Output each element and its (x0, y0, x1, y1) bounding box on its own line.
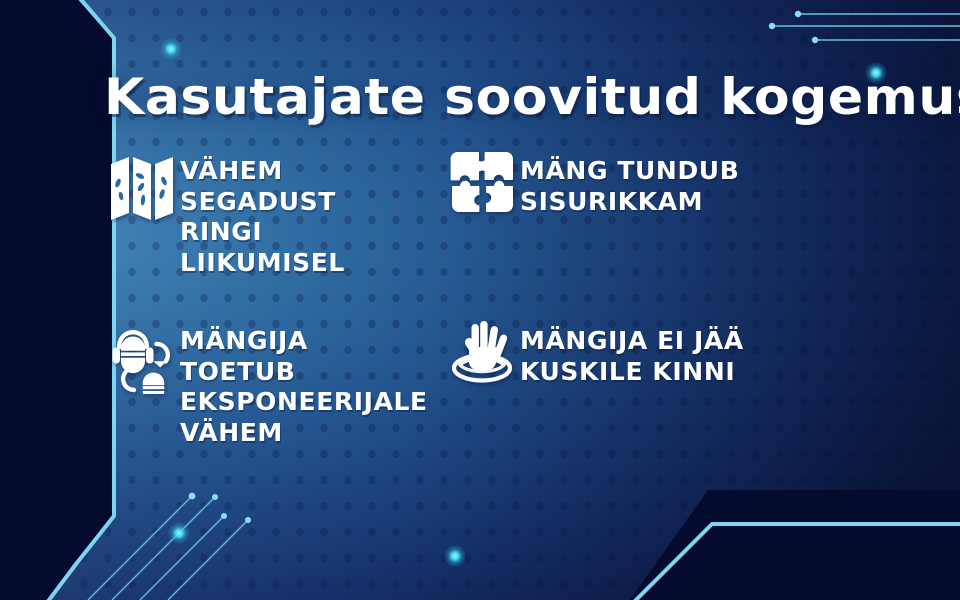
slide-canvas: Kasutajate soovitud kogemus (0, 0, 960, 600)
hand-stuck-in-hole-icon (444, 320, 520, 406)
glow-dot-top-left (160, 38, 182, 60)
benefit-label-1: VÄHEM SEGADUST RINGI LIIKUMISEL (180, 150, 420, 278)
benefit-label-2: MÄNG TUNDUB SISURIKKAM (520, 150, 860, 217)
benefit-label-3: MÄNGIJA TOETUB EKSPONEERIJALE VÄHEM (180, 320, 428, 448)
benefit-label-4: MÄNGIJA EI JÄÄ KUSKILE KINNI (520, 320, 860, 387)
headset-support-exchange-icon (104, 320, 180, 406)
benefits-grid: VÄHEM SEGADUST RINGI LIIKUMISEL MÄNG TUN… (0, 150, 960, 448)
benefit-item-4: MÄNGIJA EI JÄÄ KUSKILE KINNI (420, 320, 860, 448)
glow-dot-bottom-left (168, 522, 190, 544)
benefit-item-2: MÄNG TUNDUB SISURIKKAM (420, 150, 860, 278)
benefit-item-1: VÄHEM SEGADUST RINGI LIIKUMISEL (0, 150, 420, 278)
benefits-row-1: VÄHEM SEGADUST RINGI LIIKUMISEL MÄNG TUN… (0, 150, 960, 278)
page-title: Kasutajate soovitud kogemus (104, 72, 960, 122)
bottom-right-dark-panel (630, 490, 960, 600)
benefits-row-2: MÄNGIJA TOETUB EKSPONEERIJALE VÄHEM (0, 320, 960, 448)
puzzle-pieces-icon (444, 150, 520, 236)
folded-map-icon (104, 150, 180, 236)
benefit-item-3: MÄNGIJA TOETUB EKSPONEERIJALE VÄHEM (0, 320, 420, 448)
glow-dot-bottom-center (444, 545, 466, 567)
